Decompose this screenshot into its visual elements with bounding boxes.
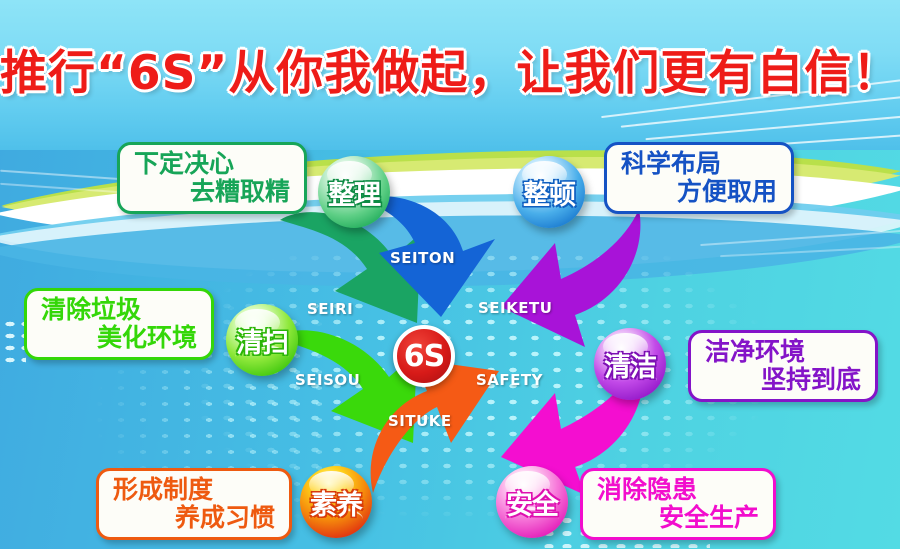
slogan-line: 安全生产 [597,504,759,533]
slogan-line: 科学布局 [621,150,777,179]
slogan-line: 坚持到底 [705,366,861,395]
slogan-line: 养成习惯 [113,504,275,533]
slogan-box-situke: 形成制度 养成习惯 [96,468,292,540]
badge-seisou: 清扫 [226,304,298,376]
arrow-label-situke: SITUKE [388,412,452,430]
badge-label: 清扫 [236,321,288,360]
slogan-line: 形成制度 [113,476,275,505]
arrow-label-seiketu: SEIKETU [478,299,552,317]
page-title: 推行“6S”从你我做起，让我们更有自信！ [0,34,900,103]
slogan-line: 下定决心 [134,150,290,179]
badge-situke: 素养 [300,466,372,538]
badge-label: 整顿 [523,173,575,212]
arrow-label-seiri: SEIRI [307,300,353,318]
arrow-seiketu [501,209,640,347]
slogan-box-seiri: 下定决心 去糟取精 [117,142,307,214]
poster-canvas: 推行“6S”从你我做起，让我们更有自信！ [0,0,900,549]
arrow-label-safety: SAFETY [476,371,543,389]
slogan-line: 去糟取精 [134,178,290,207]
six-s-core-badge: 6S [393,325,455,387]
slogan-line: 洁净环境 [705,338,861,367]
six-s-core-label: 6S [404,339,444,374]
badge-seiri: 整理 [318,156,390,228]
halftone-accent-dots [2,318,26,368]
six-s-cycle-diagram: SEIRI SEITON SEIKETU SEISOU SAFETY SITUK… [255,195,655,495]
arrow-label-seiton: SEITON [390,249,455,267]
badge-seiketu: 清洁 [594,328,666,400]
slogan-box-safety: 消除隐患 安全生产 [580,468,776,540]
badge-label: 安全 [506,483,558,522]
badge-seiton: 整顿 [513,156,585,228]
badge-safety: 安全 [496,466,568,538]
slogan-line: 清除垃圾 [41,296,197,325]
slogan-line: 消除隐患 [597,476,759,505]
badge-label: 素养 [310,483,362,522]
slogan-line: 美化环境 [41,324,197,353]
slogan-box-seisou: 清除垃圾 美化环境 [24,288,214,360]
badge-label: 清洁 [604,345,656,384]
arrow-label-seisou: SEISOU [295,371,360,389]
slogan-box-seiton: 科学布局 方便取用 [604,142,794,214]
badge-label: 整理 [328,173,380,212]
slogan-box-seiketu: 洁净环境 坚持到底 [688,330,878,402]
slogan-line: 方便取用 [621,178,777,207]
